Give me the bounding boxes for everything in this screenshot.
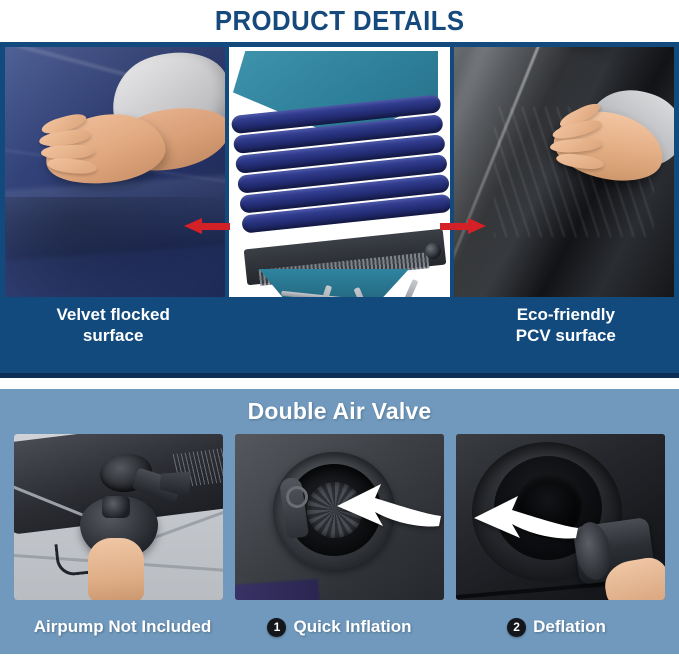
quick-inflation-caption: 1 Quick Inflation bbox=[231, 617, 448, 637]
section-subtitle: Double Air Valve bbox=[248, 398, 432, 425]
double-air-valve-section: Double Air Valve bbox=[0, 389, 679, 654]
airpump-cap-graphic bbox=[102, 496, 130, 518]
arrow-shaft bbox=[440, 223, 470, 230]
velvet-flocked-panel bbox=[5, 47, 225, 297]
arrow-to-pcv-icon bbox=[440, 218, 486, 234]
velvet-caption: Velvet flocked surface bbox=[0, 305, 226, 346]
velvet-shadow bbox=[5, 197, 225, 297]
title-bar: PRODUCT DETAILS bbox=[0, 0, 679, 42]
deflation-caption: 2 Deflation bbox=[448, 617, 665, 637]
arrow-to-velvet-icon bbox=[184, 218, 230, 234]
arrow-shaft bbox=[200, 223, 230, 230]
velvet-caption-line1: Velvet flocked bbox=[0, 305, 226, 326]
deflation-label: Deflation bbox=[533, 617, 606, 637]
pcv-caption-line1: Eco-friendly bbox=[453, 305, 679, 326]
pcv-caption-line2: PCV surface bbox=[453, 326, 679, 347]
section-divider-rule bbox=[0, 373, 679, 378]
deflation-panel bbox=[456, 434, 665, 600]
step-badge-2: 2 bbox=[507, 618, 526, 637]
section-gap bbox=[0, 378, 679, 389]
deflate-arrow-icon bbox=[468, 492, 578, 544]
valve-panel-row bbox=[0, 434, 679, 600]
airpump-caption-label: Airpump Not Included bbox=[34, 617, 212, 637]
airpump-panel bbox=[14, 434, 223, 600]
airpump-caption: Airpump Not Included bbox=[14, 617, 231, 637]
caption-cell-right: Eco-friendly PCV surface bbox=[453, 297, 679, 373]
hand-graphic bbox=[88, 538, 144, 600]
full-product-panel bbox=[229, 47, 450, 297]
page-title: PRODUCT DETAILS bbox=[215, 7, 465, 35]
pcv-surface-panel bbox=[454, 47, 674, 297]
top-panel-row bbox=[0, 42, 679, 297]
quick-inflation-label: Quick Inflation bbox=[293, 617, 411, 637]
bottom-caption-row: Airpump Not Included 1 Quick Inflation 2… bbox=[0, 600, 679, 654]
mattress-body-graphic bbox=[231, 94, 450, 245]
product-details-section: Velvet flocked surface Eco-friendly PCV … bbox=[0, 42, 679, 378]
step-badge-1: 1 bbox=[267, 618, 286, 637]
inflate-arrow-icon bbox=[331, 482, 441, 532]
subtitle-bar: Double Air Valve bbox=[0, 389, 679, 434]
arrow-head bbox=[468, 218, 486, 234]
caption-cell-center bbox=[226, 297, 452, 373]
caption-cell-left: Velvet flocked surface bbox=[0, 297, 226, 373]
top-caption-row: Velvet flocked surface Eco-friendly PCV … bbox=[0, 297, 679, 373]
velvet-caption-line2: surface bbox=[0, 326, 226, 347]
pcv-caption: Eco-friendly PCV surface bbox=[453, 305, 679, 346]
quick-inflation-panel bbox=[235, 434, 444, 600]
